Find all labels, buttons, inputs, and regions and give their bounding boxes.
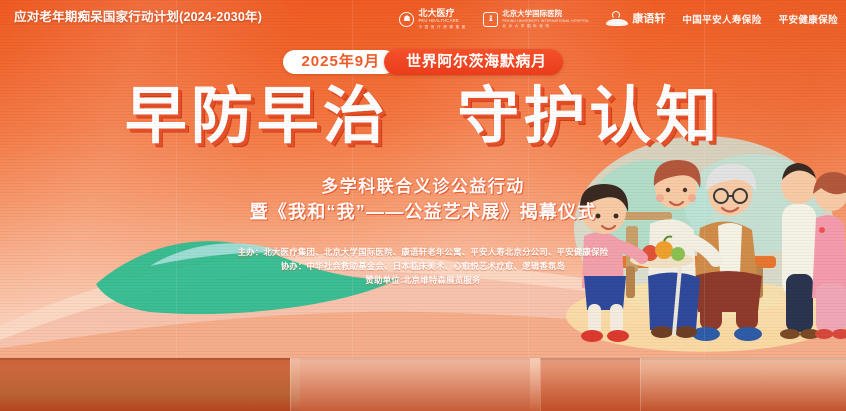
sponsor-logo-bar: ☗ 北大医疗 PKU HEALTHCARE 中 国 医 疗 健 康 集 团 ♝ … xyxy=(399,4,838,34)
logo-pku-healthcare-en: PKU HEALTHCARE xyxy=(418,19,466,24)
logo-kangyuxuan-cn: 康语轩 xyxy=(632,15,665,24)
kangyuxuan-swoosh-icon xyxy=(606,11,628,27)
logo-pku-hospital-sub: 北 京 大 学 国 际 医 院 xyxy=(502,24,589,28)
floor-tile-seam xyxy=(640,358,641,411)
logo-pku-hospital-cn: 北京大学国际医院 xyxy=(502,10,589,18)
subtitle-line-1: 多学科联合义诊公益行动 xyxy=(0,172,846,197)
credits-organizers: 主办：北大医疗集团、北京大学国际医院、康语轩老年公寓、平安人寿北京分公司、平安健… xyxy=(0,245,846,259)
theme-pill-row: 2025年9月 世界阿尔茨海默病月 xyxy=(0,49,846,75)
logo-pku-healthcare-cn: 北大医疗 xyxy=(418,9,466,18)
pku-hospital-emblem-icon: ♝ xyxy=(483,12,498,27)
logo-pingan-life: 中国平安人寿保险 xyxy=(682,12,761,26)
led-backdrop-screen: 应对老年期痴呆国家行动计划(2024-2030年) ☗ 北大医疗 PKU HEA… xyxy=(0,0,846,358)
logo-pku-healthcare: ☗ 北大医疗 PKU HEALTHCARE 中 国 医 疗 健 康 集 团 xyxy=(399,9,466,29)
main-headline: 早防早治 守护认知 xyxy=(0,83,846,151)
pill-date: 2025年9月 xyxy=(283,50,396,74)
logo-pku-international-hospital: ♝ 北京大学国际医院 PEKING UNIVERSITY INTERNATION… xyxy=(483,10,589,28)
logo-pku-hospital-en: PEKING UNIVERSITY INTERNATIONAL HOSPITAL xyxy=(502,19,589,23)
floor-reflection-left xyxy=(0,358,300,411)
pill-theme: 世界阿尔茨海默病月 xyxy=(384,49,562,75)
event-stage-photo: 应对老年期痴呆国家行动计划(2024-2030年) ☗ 北大医疗 PKU HEA… xyxy=(0,0,846,411)
floor-tile-seam xyxy=(290,358,291,411)
floor-illustration-reflection xyxy=(640,358,846,411)
national-plan-title: 应对老年期痴呆国家行动计划(2024-2030年) xyxy=(14,6,262,25)
stage-floor xyxy=(0,358,846,411)
headline-left: 早防早治 xyxy=(125,82,389,151)
credits-coorganizers: 协办：中华社会救助基金会、日本临床美术、心愈悦艺术疗愈、逻辑香氛岛 xyxy=(0,259,846,273)
pku-healthcare-emblem-icon: ☗ xyxy=(399,12,414,27)
logo-pingan-health: 平安健康保险 xyxy=(779,12,838,26)
subtitle-line-2: 暨《我和“我”——公益艺术展》揭幕仪式 xyxy=(0,198,846,224)
headline-right: 守护认知 xyxy=(457,82,721,151)
credits-sponsor: 赞助单位:北京维特森展览服务 xyxy=(0,273,846,287)
floor-reflection-center xyxy=(290,358,540,411)
logo-kangyuxuan: 康语轩 xyxy=(606,11,665,27)
floor-tile-seam xyxy=(540,358,541,411)
credits-block: 主办：北大医疗集团、北京大学国际医院、康语轩老年公寓、平安人寿北京分公司、平安健… xyxy=(0,245,846,287)
logo-pku-healthcare-sub: 中 国 医 疗 健 康 集 团 xyxy=(418,25,466,29)
